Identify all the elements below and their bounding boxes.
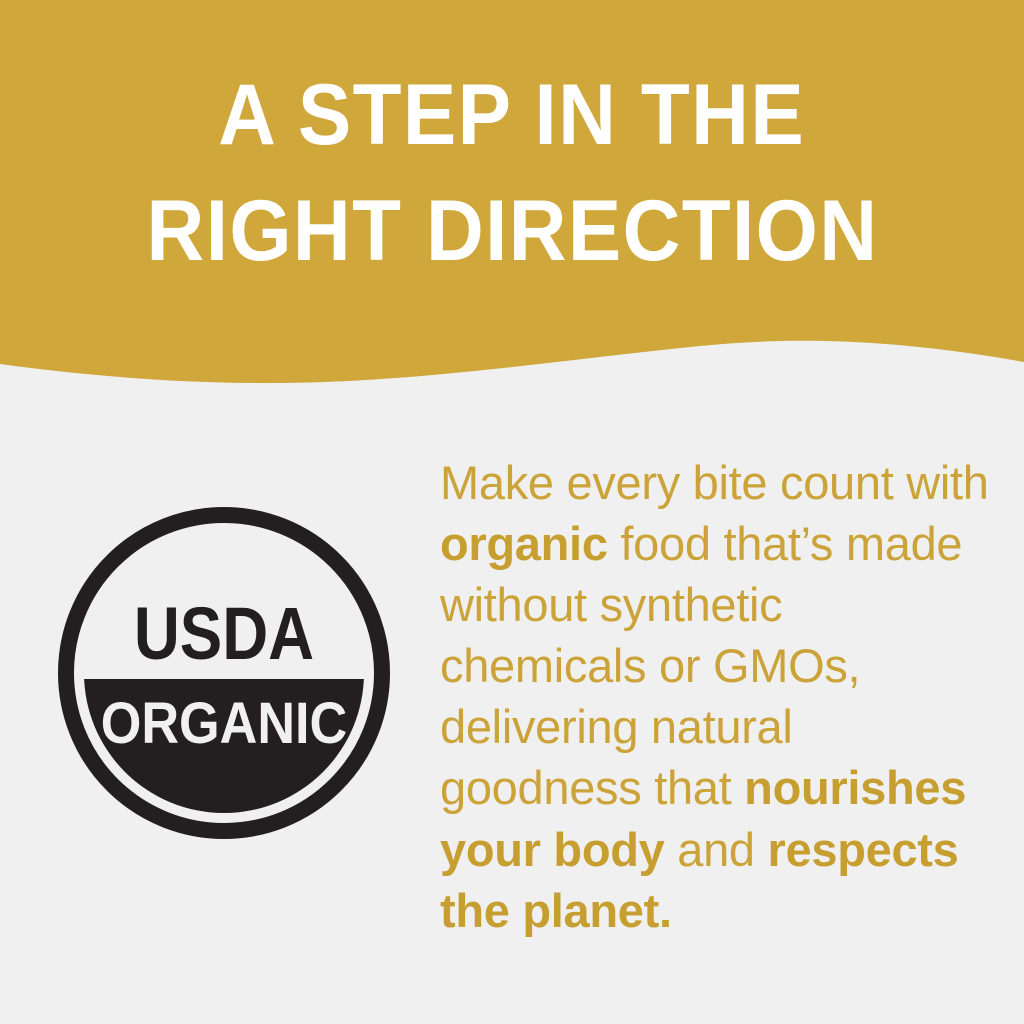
seal-organic-label: ORGANIC — [101, 690, 347, 755]
usda-organic-seal: USDA ORGANIC — [58, 507, 390, 839]
body-plain-text: Make every bite count with — [440, 456, 989, 509]
body-plain-text: and — [664, 823, 767, 876]
body-emphasis-text: organic — [440, 517, 608, 570]
gold-wave-shape — [0, 0, 1024, 383]
seal-usda-label: USDA — [134, 593, 314, 676]
gold-wave-header-background — [0, 0, 1024, 400]
body-paragraph: Make every bite count with organic food … — [440, 452, 1000, 941]
poster-canvas: A STEP IN THE RIGHT DIRECTION USDA — [0, 0, 1024, 1024]
